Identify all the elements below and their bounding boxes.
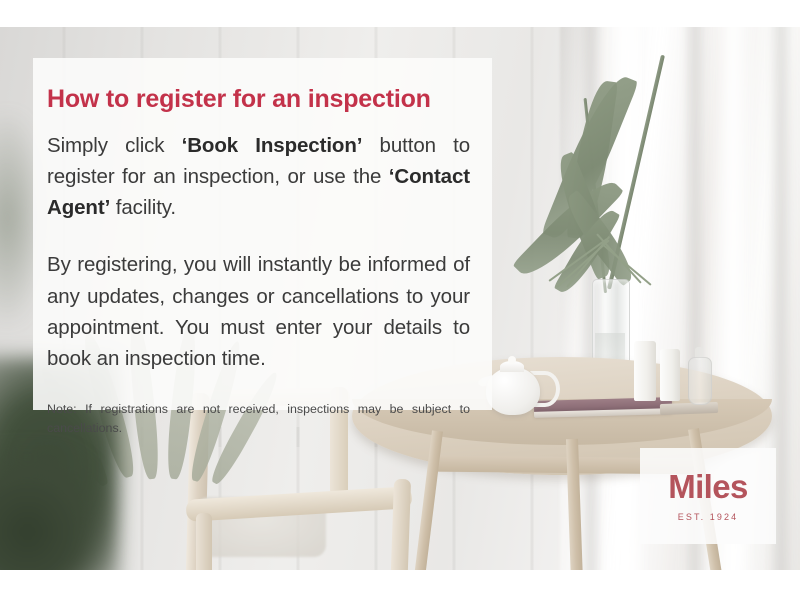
logo-wordmark: Miles [668, 470, 748, 503]
logo-established-text: EST. 1924 [678, 512, 738, 522]
teapot-knob [508, 356, 516, 364]
bottom-white-band [0, 570, 800, 600]
glass-carafe [688, 357, 712, 405]
candle [660, 349, 680, 401]
chair-leg [196, 513, 212, 570]
cancellation-note: Note: If registrations are not received,… [47, 400, 470, 437]
intro-text-part-1: Simply click [47, 134, 182, 157]
chair-leg [390, 479, 411, 570]
second-book [660, 402, 718, 415]
foreground-foliage [0, 447, 110, 570]
page-title: How to register for an inspection [47, 84, 470, 114]
paragraph-spacer [47, 223, 470, 249]
intro-paragraph: Simply click ‘Book Inspection’ button to… [47, 130, 470, 223]
inspection-registration-banner: How to register for an inspection Simply… [0, 0, 800, 600]
intro-text-part-3: facility. [110, 196, 176, 219]
book-inspection-emphasis: ‘Book Inspection’ [182, 134, 363, 157]
white-teapot [486, 367, 540, 415]
brand-logo: Miles EST. 1924 [640, 448, 776, 544]
registration-details-paragraph: By registering, you will instantly be in… [47, 249, 470, 374]
info-card: How to register for an inspection Simply… [33, 58, 492, 410]
top-white-band [0, 0, 800, 27]
candle [634, 341, 656, 401]
